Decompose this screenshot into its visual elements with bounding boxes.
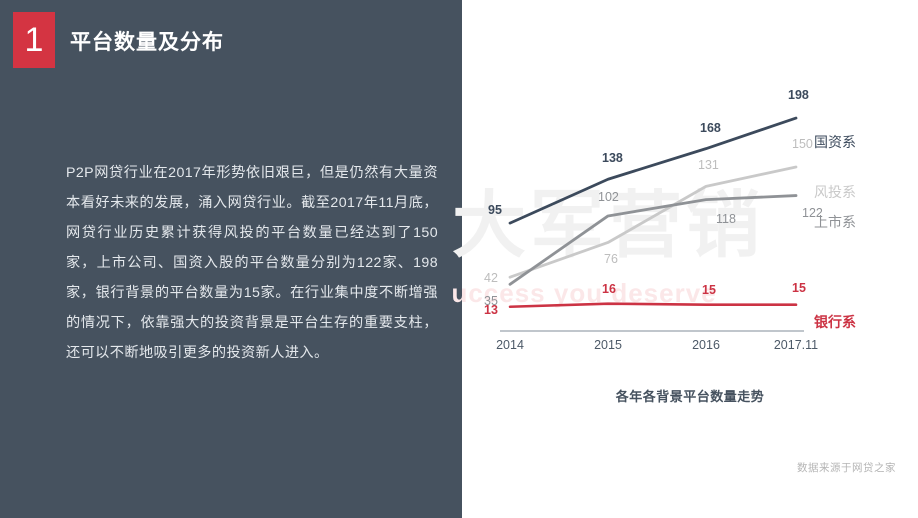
series-line-1	[510, 167, 796, 277]
data-label-银行系-2016: 15	[702, 283, 716, 297]
data-label-国资系-2016: 168	[700, 121, 721, 135]
data-label-国资系-2015: 138	[602, 151, 623, 165]
source-note: 数据来源于网贷之家	[797, 460, 896, 475]
page-title: 平台数量及分布	[70, 26, 224, 56]
data-label-银行系-2015: 16	[602, 282, 616, 296]
series-label-银行系: 银行系	[814, 312, 856, 332]
left-text-panel: 1 平台数量及分布 P2P网贷行业在2017年形势依旧艰巨，但是仍然有大量资本看…	[0, 0, 462, 518]
data-label-风投系-2015: 76	[604, 252, 618, 266]
x-axis-tick-2017.11: 2017.11	[761, 338, 831, 352]
data-label-风投系-2016: 131	[698, 158, 719, 172]
x-axis-tick-2016: 2016	[671, 338, 741, 352]
data-label-风投系-2017.11: 150	[792, 137, 813, 151]
section-number-badge: 1	[13, 12, 55, 68]
data-label-银行系-2017.11: 15	[792, 281, 806, 295]
chart-caption: 各年各背景平台数量走势	[462, 386, 918, 405]
data-label-国资系-2014: 95	[488, 203, 502, 217]
series-line-2	[510, 196, 796, 285]
series-label-上市系: 上市系	[814, 212, 856, 232]
body-paragraph: P2P网贷行业在2017年形势依旧艰巨，但是仍然有大量资本看好未来的发展，涌入网…	[66, 158, 438, 368]
series-label-国资系: 国资系	[814, 132, 856, 152]
data-label-银行系-2014: 13	[484, 303, 498, 317]
x-axis-tick-2014: 2014	[475, 338, 545, 352]
chart-panel: 大军营销 success you deserve 201420152016201…	[462, 0, 918, 518]
data-label-上市系-2016: 118	[716, 212, 736, 226]
series-label-风投系: 风投系	[814, 182, 856, 202]
series-line-3	[510, 304, 796, 307]
data-label-国资系-2017.11: 198	[788, 88, 809, 102]
data-label-上市系-2015: 102	[598, 190, 619, 204]
data-label-风投系-2014: 42	[484, 271, 498, 285]
x-axis-tick-2015: 2015	[573, 338, 643, 352]
